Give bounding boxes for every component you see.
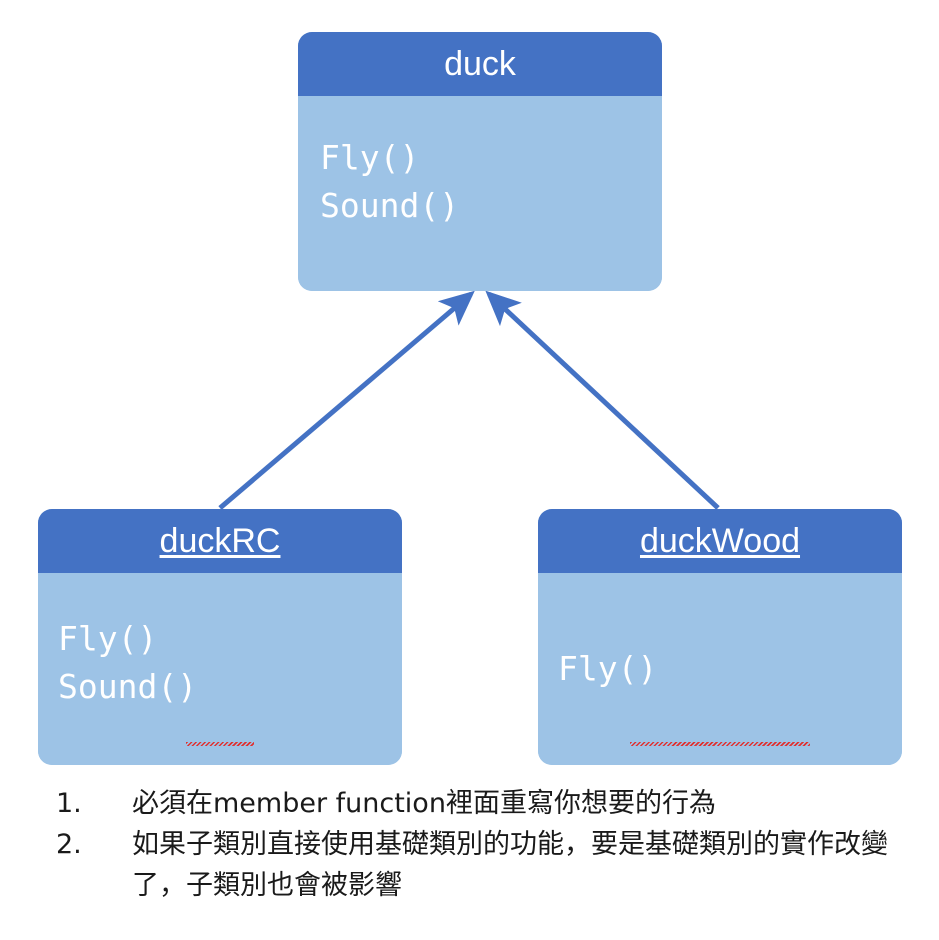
list-item: 1. 必須在member function裡面重寫你想要的行為: [46, 783, 926, 824]
class-title-duckrc: duckRC: [160, 524, 281, 558]
class-box-duckrc[interactable]: duckRC Fly() Sound(): [38, 509, 402, 765]
note-number: 2.: [46, 824, 132, 865]
list-item: 2. 如果子類別直接使用基礎類別的功能，要是基礎類別的實作改變了，子類別也會被影…: [46, 824, 926, 906]
inheritance-arrow-duckwood: [489, 294, 718, 508]
uml-class-diagram: duck Fly() Sound() duckRC Fly() Sound() …: [0, 0, 939, 940]
class-members-duck: Fly() Sound(): [298, 96, 662, 291]
note-text: 必須在member function裡面重寫你想要的行為: [132, 783, 926, 824]
class-box-duck[interactable]: duck Fly() Sound(): [298, 32, 662, 291]
class-member: Fly(): [558, 645, 902, 693]
inheritance-arrow-duckrc: [220, 294, 471, 508]
note-number: 1.: [46, 783, 132, 824]
class-members-duckwood: Fly(): [538, 573, 902, 765]
class-header-duck: duck: [298, 32, 662, 96]
class-title-duck: duck: [444, 47, 516, 81]
class-title-duckwood: duckWood: [640, 524, 800, 558]
class-member: Sound(): [58, 663, 402, 711]
class-member: Fly(): [320, 134, 662, 182]
notes-list: 1. 必須在member function裡面重寫你想要的行為 2. 如果子類別…: [46, 783, 926, 906]
class-member: Sound(): [320, 182, 662, 230]
class-members-duckrc: Fly() Sound(): [38, 573, 402, 765]
note-text: 如果子類別直接使用基礎類別的功能，要是基礎類別的實作改變了，子類別也會被影響: [132, 824, 926, 906]
class-member: Fly(): [58, 615, 402, 663]
class-header-duckwood: duckWood: [538, 509, 902, 573]
class-header-duckrc: duckRC: [38, 509, 402, 573]
class-box-duckwood[interactable]: duckWood Fly(): [538, 509, 902, 765]
